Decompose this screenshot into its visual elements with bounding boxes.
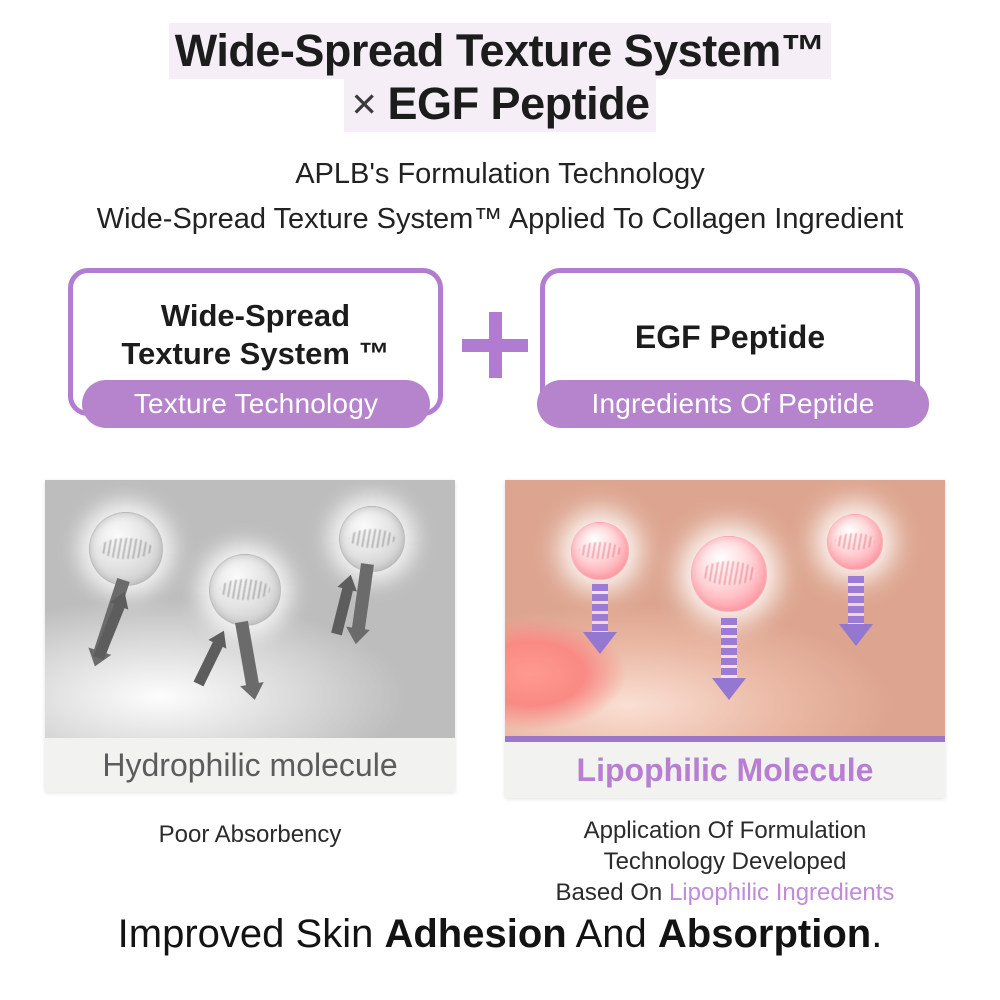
subtitle-line-1: APLB's Formulation Technology <box>0 152 1000 197</box>
pill-ingredients-of-peptide: Ingredients Of Peptide <box>537 380 929 428</box>
concept-left-title-line1: Wide-Spread <box>161 297 350 335</box>
title-line-2: ✕EGF Peptide <box>0 77 1000 130</box>
panel-lipophilic-illustration <box>505 480 945 742</box>
footer-part-1: Improved Skin <box>118 912 385 956</box>
arrow-down-purple-2 <box>721 618 737 680</box>
pill-texture-technology: Texture Technology <box>82 380 430 428</box>
title-line-2-text: EGF Peptide <box>388 78 650 129</box>
page-title: Wide-Spread Texture System™ ✕EGF Peptide <box>0 0 1000 130</box>
title-line-1-text: Wide-Spread Texture System™ <box>169 23 831 79</box>
caption-lipophilic-line1: Application Of Formulation <box>505 816 945 847</box>
footer-tagline: Improved Skin Adhesion And Absorption. <box>0 912 1000 957</box>
panel-hydrophilic-illustration <box>45 480 455 738</box>
panel-hydrophilic: Hydrophilic molecule <box>45 480 455 792</box>
molecule-gray-3 <box>339 506 405 572</box>
arrow-down-purple-1 <box>592 584 608 634</box>
footer-bold-absorption: Absorption <box>658 912 871 956</box>
plus-icon <box>462 312 528 378</box>
concept-left-title-line2: Texture System ™ <box>121 335 389 373</box>
cross-icon: ✕ <box>350 86 387 123</box>
concept-box-row: Wide-Spread Texture System ™ Texture Tec… <box>0 268 1000 458</box>
subtitle-line-2: Wide-Spread Texture System™ Applied To C… <box>0 197 1000 242</box>
footer-bold-adhesion: Adhesion <box>384 912 566 956</box>
footer-part-2: And <box>567 912 658 956</box>
caption-lipophilic-line3: Based On Lipophilic Ingredients <box>505 878 945 909</box>
caption-lipophilic-highlight: Lipophilic Ingredients <box>669 879 894 906</box>
caption-lipophilic: Application Of Formulation Technology De… <box>505 816 945 908</box>
footer-part-3: . <box>871 912 882 956</box>
molecule-gray-2 <box>209 554 281 626</box>
molecule-gray-1 <box>89 512 163 586</box>
arrow-down-purple-3 <box>848 576 864 626</box>
caption-row: Poor Absorbency Application Of Formulati… <box>0 810 1000 910</box>
caption-lipophilic-line2: Technology Developed <box>505 847 945 878</box>
molecule-pink-3 <box>827 514 883 570</box>
molecule-pink-2 <box>691 536 767 612</box>
panel-lipophilic-label: Lipophilic Molecule <box>505 742 945 798</box>
molecule-pink-1 <box>571 522 629 580</box>
subtitle: APLB's Formulation Technology Wide-Sprea… <box>0 152 1000 242</box>
panel-hydrophilic-label: Hydrophilic molecule <box>45 738 455 792</box>
caption-lipophilic-line3-prefix: Based On <box>556 879 669 906</box>
title-line-1: Wide-Spread Texture System™ <box>0 24 1000 77</box>
caption-hydrophilic: Poor Absorbency <box>45 820 455 851</box>
panel-lipophilic: Lipophilic Molecule <box>505 480 945 798</box>
comparison-panel-row: Hydrophilic molecule Lipophilic Molecule <box>0 480 1000 810</box>
